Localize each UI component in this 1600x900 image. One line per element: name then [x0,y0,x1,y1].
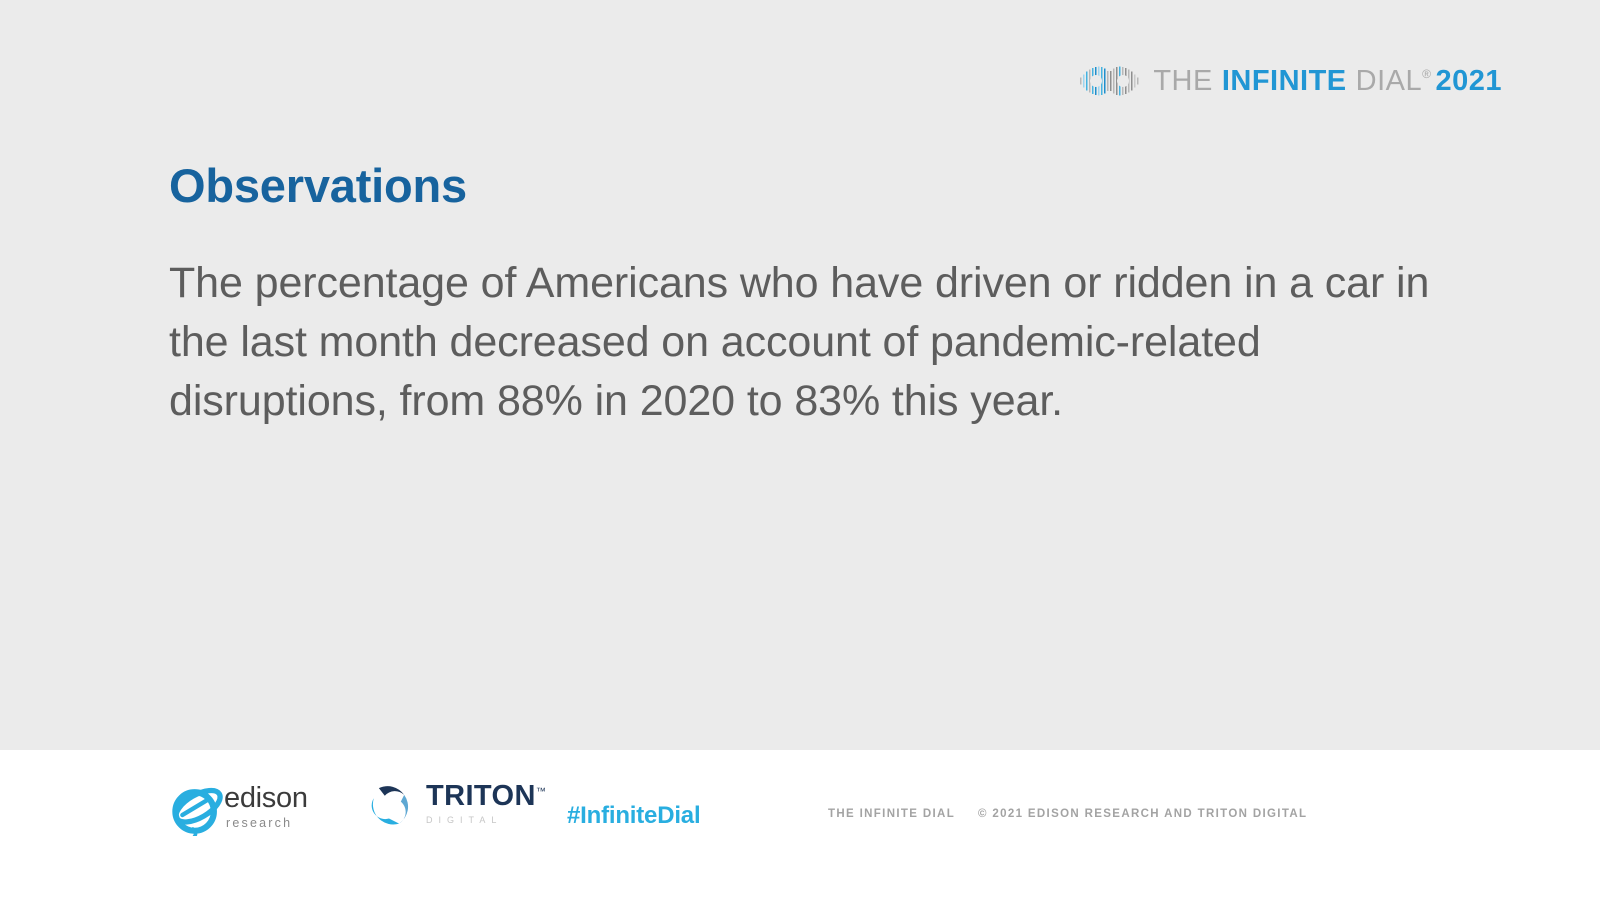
triton-name: TRITON™ [426,782,546,811]
infinite-dial-brand-lockup: THE INFINITE DIAL ® 2021 [1079,56,1502,106]
body-paragraph: The percentage of Americans who have dri… [169,254,1479,432]
triton-registered-mark: ™ [536,786,546,797]
slide-footer: edison research TRITON™ DIGITAL #Infinit… [0,750,1600,900]
brand-wordmark: THE INFINITE DIAL ® 2021 [1153,65,1502,98]
slide: THE INFINITE DIAL ® 2021 Observations Th… [0,0,1600,900]
brand-the: THE [1153,65,1213,98]
content-block: Observations The percentage of Americans… [169,160,1479,432]
brand-year: 2021 [1435,65,1502,98]
copyright-line: THE INFINITE DIAL © 2021 EDISON RESEARCH… [828,808,1307,820]
triton-digital-logo: TRITON™ DIGITAL [362,778,546,832]
edison-subtitle: research [226,816,308,830]
hashtag-infinite-dial[interactable]: #InfiniteDial [567,802,700,830]
copyright-notice: © 2021 EDISON RESEARCH AND TRITON DIGITA… [978,808,1307,820]
edison-name: edison [224,784,308,813]
edison-wordmark: edison research [224,784,308,832]
edison-research-logo: edison research [168,780,308,836]
slide-canvas: THE INFINITE DIAL ® 2021 Observations Th… [0,0,1600,750]
page-title: Observations [169,160,1479,212]
infinite-dial-wave-icon [1079,61,1141,101]
copyright-brand: THE INFINITE DIAL [828,808,955,820]
edison-orbit-icon [168,780,230,836]
triton-wordmark: TRITON™ DIGITAL [426,782,546,829]
brand-registered-mark: ® [1422,67,1431,81]
triton-arcs-icon [362,778,416,832]
brand-infinite: INFINITE [1222,65,1347,98]
triton-subtitle: DIGITAL [426,815,546,825]
brand-dial: DIAL [1356,65,1422,98]
